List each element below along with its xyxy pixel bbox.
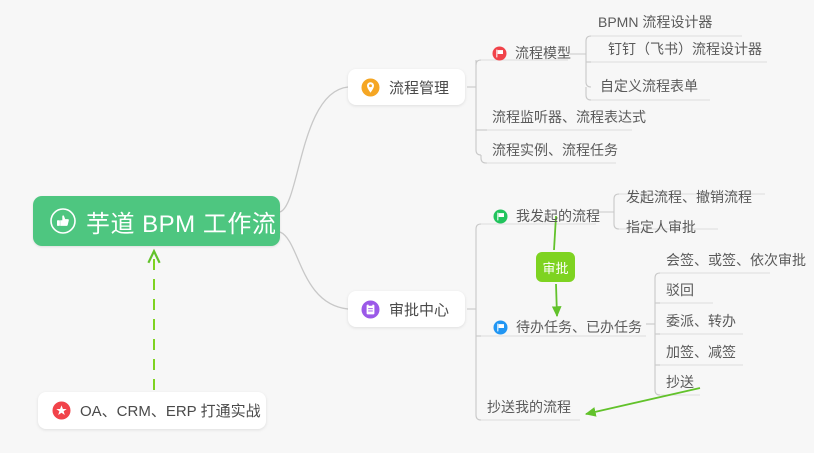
leaf-label: 流程实例、流程任务 — [492, 140, 618, 160]
callout-label: OA、CRM、ERP 打通实战 — [80, 400, 261, 421]
leaf-bpmn-designer[interactable]: BPMN 流程设计器 — [598, 9, 712, 35]
leaf-label: 指定人审批 — [626, 217, 696, 237]
subnode-label: 流程模型 — [515, 43, 571, 63]
connector-pm-trunk — [476, 60, 481, 155]
leaf-add-remove-sign[interactable]: 加签、减签 — [666, 339, 736, 365]
root-node[interactable]: 芋道 BPM 工作流 — [33, 196, 280, 246]
leaf-label: 钉钉（飞书）流程设计器 — [608, 39, 762, 59]
leaf-label: 加签、减签 — [666, 342, 736, 362]
connector-root-to-process-management — [280, 87, 348, 212]
leaf-label: 发起流程、撤销流程 — [626, 187, 752, 207]
subnode-todo-done-tasks[interactable]: 待办任务、已办任务 — [493, 314, 642, 340]
connector-root-to-approval-center — [280, 232, 348, 309]
subnode-process-model[interactable]: 流程模型 — [492, 40, 571, 66]
mindmap-canvas: 芋道 BPM 工作流 流程管理 流程模型 BPMN 流程设计器 钉钉（飞书）流程… — [0, 0, 814, 453]
leaf-label: 流程监听器、流程表达式 — [492, 107, 646, 127]
leaf-delegate-transfer[interactable]: 委派、转办 — [666, 308, 736, 334]
approval-badge[interactable]: 审批 — [536, 252, 575, 282]
leaf-reject[interactable]: 驳回 — [666, 277, 694, 303]
branch-process-management[interactable]: 流程管理 — [348, 69, 465, 105]
connector-started-trunk — [614, 194, 619, 229]
leaf-cc-to-me[interactable]: 抄送我的流程 — [487, 394, 571, 420]
flag-circle-green-icon — [493, 209, 508, 224]
leaf-label: 自定义流程表单 — [600, 76, 698, 96]
flag-circle-blue-icon — [493, 320, 508, 335]
root-label: 芋道 BPM 工作流 — [86, 204, 276, 239]
leaf-countersign-modes[interactable]: 会签、或签、依次审批 — [666, 247, 806, 273]
branch-label: 审批中心 — [389, 299, 449, 320]
location-pin-circle-icon — [361, 78, 380, 97]
connector-model-custom — [586, 87, 591, 100]
leaf-label: 委派、转办 — [666, 311, 736, 331]
leaf-label: 抄送我的流程 — [487, 397, 571, 417]
branch-label: 流程管理 — [389, 77, 449, 98]
star-circle-icon — [52, 401, 71, 420]
subnode-label: 我发起的流程 — [516, 206, 600, 226]
leaf-label: BPMN 流程设计器 — [598, 12, 712, 32]
connector-ac-trunk — [476, 224, 481, 420]
arrow-badge-to-todo — [556, 284, 557, 316]
callout-integration-practice[interactable]: OA、CRM、ERP 打通实战 — [38, 392, 266, 429]
connector-pm-instance — [481, 155, 487, 163]
leaf-cc[interactable]: 抄送 — [666, 369, 694, 395]
approval-badge-label: 审批 — [542, 258, 568, 277]
flag-circle-red-icon — [492, 46, 507, 61]
thumbs-up-circle-icon — [50, 208, 76, 234]
leaf-custom-form[interactable]: 自定义流程表单 — [600, 73, 698, 99]
subnode-label: 待办任务、已办任务 — [516, 317, 642, 337]
leaf-label: 抄送 — [666, 372, 694, 392]
leaf-start-cancel-process[interactable]: 发起流程、撤销流程 — [626, 184, 752, 210]
leaf-label: 驳回 — [666, 280, 694, 300]
leaf-instance-task[interactable]: 流程实例、流程任务 — [492, 137, 618, 163]
connector-todo-trunk — [655, 273, 660, 395]
connector-pm-branch-model — [476, 60, 481, 65]
leaf-listener-expression[interactable]: 流程监听器、流程表达式 — [492, 104, 646, 130]
branch-approval-center[interactable]: 审批中心 — [348, 291, 465, 327]
leaf-label: 会签、或签、依次审批 — [666, 250, 806, 270]
leaf-assignee-approval[interactable]: 指定人审批 — [626, 214, 696, 240]
subnode-my-started-processes[interactable]: 我发起的流程 — [493, 203, 600, 229]
clipboard-circle-purple-icon — [361, 300, 380, 319]
leaf-dingtalk-designer[interactable]: 钉钉（飞书）流程设计器 — [608, 36, 762, 62]
connector-model-trunk — [586, 36, 591, 87]
